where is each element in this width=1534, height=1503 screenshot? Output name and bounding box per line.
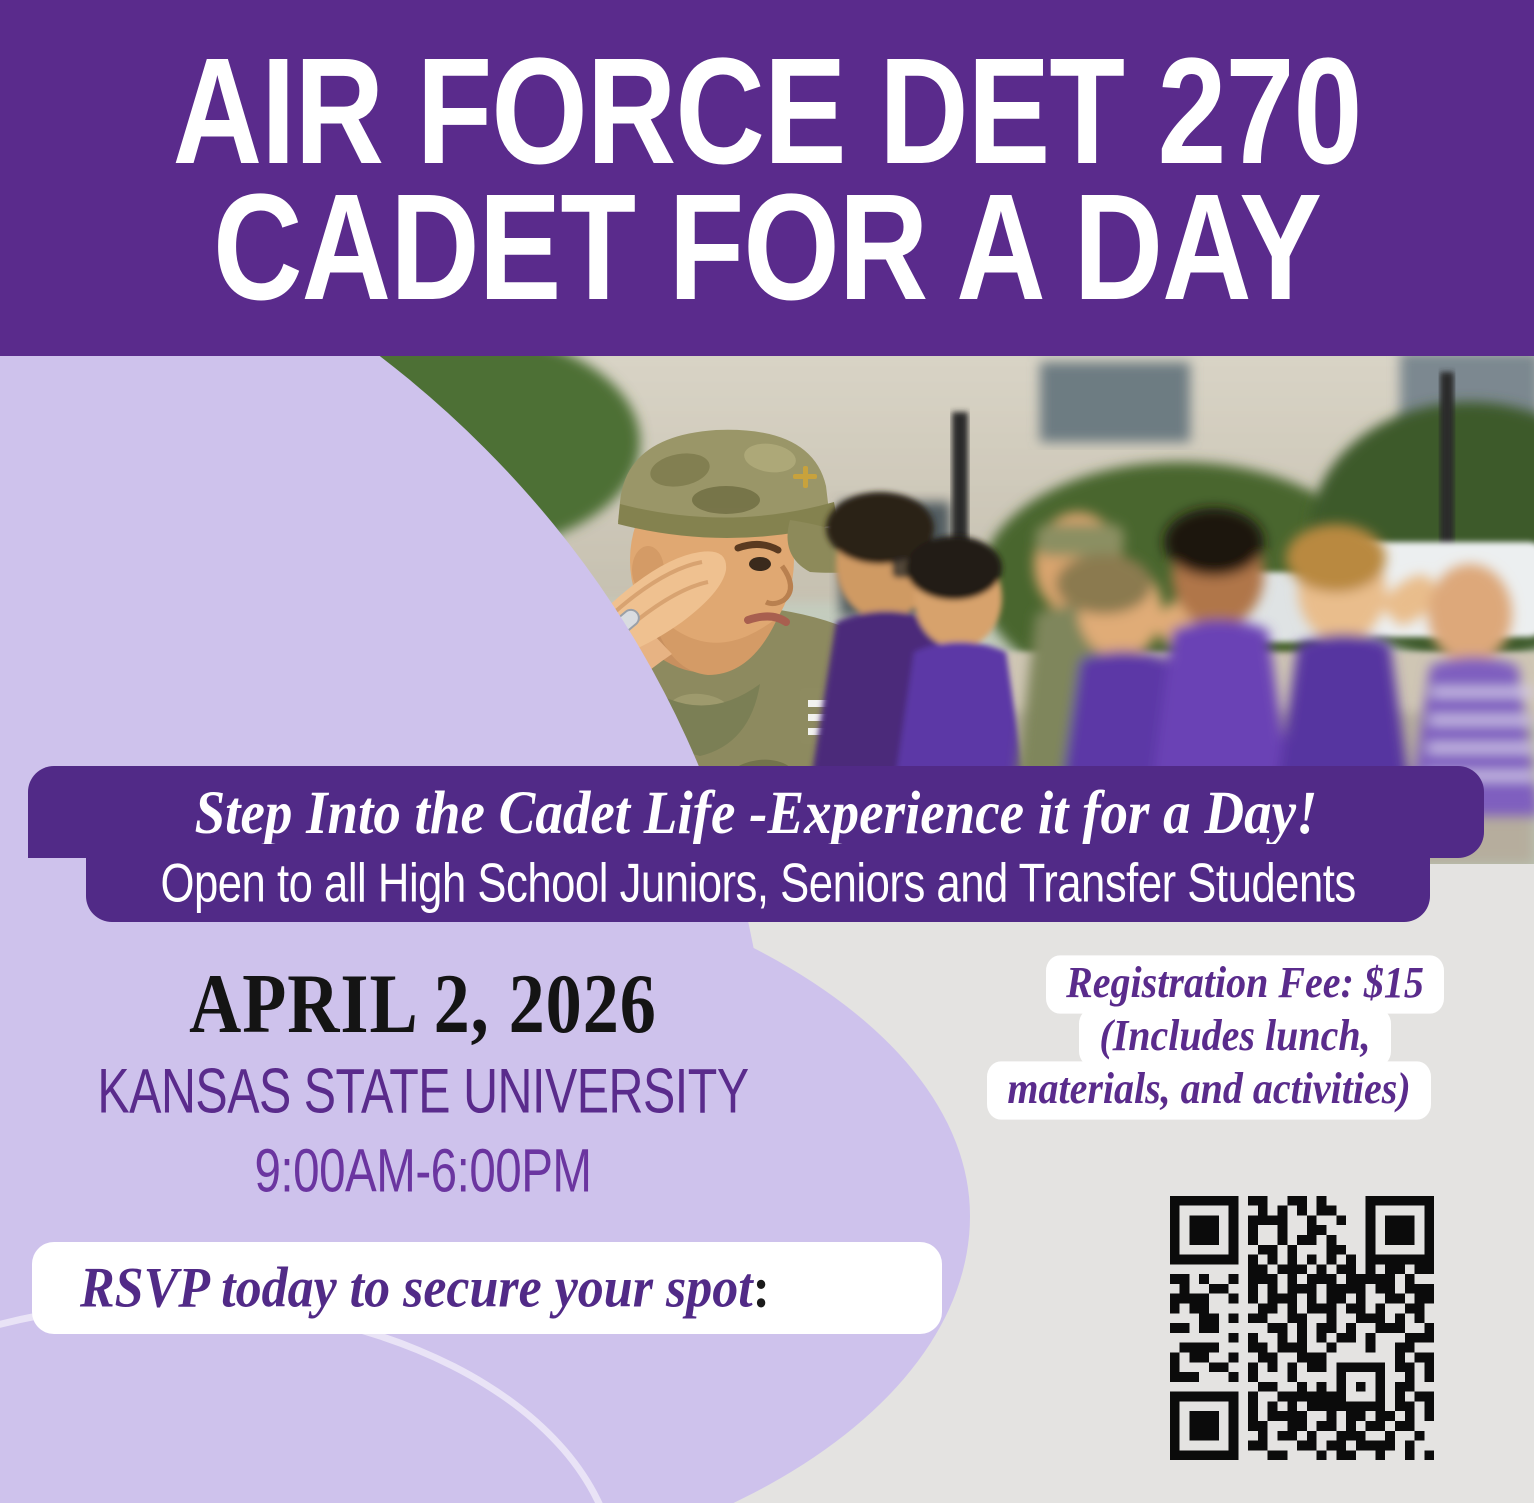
registration-fee-block: Registration Fee: $15 (Includes lunch, m… [958, 958, 1498, 1116]
tagline-secondary-text: Open to all High School Juniors, Seniors… [160, 851, 1355, 914]
banner-notch-left [28, 826, 60, 858]
event-location: KANSAS STATE UNIVERSITY [65, 1058, 781, 1127]
fee-line-2: (Includes lunch, [1079, 1008, 1390, 1066]
fee-line-3: materials, and activities) [987, 1061, 1430, 1119]
header-title-line2: CADET FOR A DAY [213, 177, 1321, 321]
rsvp-message: RSVP today to secure your spot [80, 1257, 753, 1320]
fee-line-1: Registration Fee: $15 [1046, 955, 1444, 1013]
rsvp-colon: : [753, 1257, 770, 1320]
registration-qr-code[interactable] [1160, 1186, 1444, 1470]
poster-root: REINHARD U.S. AIR FORCE [0, 0, 1534, 1503]
event-date: APRIL 2, 2026 [57, 961, 789, 1046]
tagline-secondary-bar: Open to all High School Juniors, Seniors… [86, 844, 1430, 922]
event-time: 9:00AM-6:00PM [57, 1138, 789, 1204]
tagline-primary-text: Step Into the Cadet Life -Experience it … [195, 777, 1318, 848]
rsvp-callout: RSVP today to secure your spot: [32, 1242, 942, 1334]
event-details-block: APRIL 2, 2026 KANSAS STATE UNIVERSITY 9:… [38, 966, 808, 1198]
rsvp-text: RSVP today to secure your spot: [80, 1256, 770, 1321]
poster-header: AIR FORCE DET 270 CADET FOR A DAY [0, 0, 1534, 356]
banner-notch-right [1424, 826, 1456, 858]
